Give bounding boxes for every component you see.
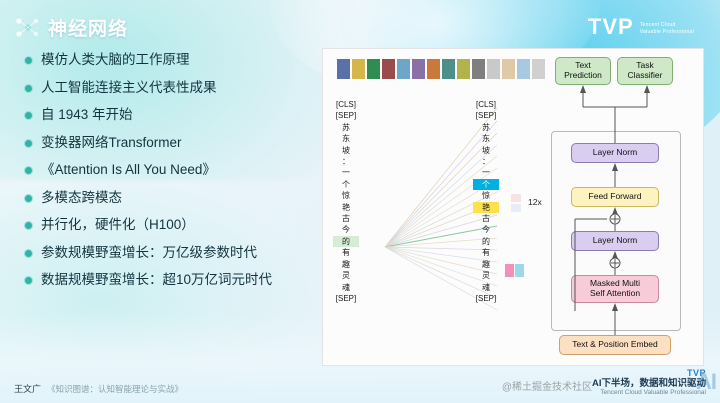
list-item: 多模态跨模态 xyxy=(24,190,314,206)
tvp-logo: TVP Tencent Cloud Valuable Professional xyxy=(588,16,694,38)
figure-panel: [CLS][SEP]苏东坡：一个惊艳古今的有趣灵魂[SEP] [CLS][SEP… xyxy=(322,48,704,366)
embedding-color-cell xyxy=(367,59,380,79)
bullet-text: 自 1943 年开始 xyxy=(41,107,133,123)
embedding-color-cell xyxy=(427,59,440,79)
token-cell: 个 xyxy=(473,179,499,190)
token-cell: 趣 xyxy=(473,259,499,270)
embedding-color-cell xyxy=(352,59,365,79)
token-cell: 古 xyxy=(473,213,499,224)
token-cell: 一 xyxy=(473,167,499,178)
repeat-label: 12x xyxy=(528,197,542,207)
bullet-text: 多模态跨模态 xyxy=(41,190,122,206)
list-item: 《Attention Is All You Need》 xyxy=(24,162,314,178)
embedding-color-cell xyxy=(502,59,515,79)
bullet-dot-icon xyxy=(24,249,33,258)
bullet-text: 数据规模野蛮增长：超10万亿词元时代 xyxy=(41,272,272,288)
bullet-list: 模仿人类大脑的工作原理 人工智能连接主义代表性成果 自 1943 年开始 变换器… xyxy=(24,52,314,300)
token-cell: 惊 xyxy=(333,190,359,201)
tvp-logo-mark: TVP xyxy=(588,16,634,38)
token-cell: 苏 xyxy=(473,122,499,133)
bullet-text: 并行化，硬件化（H100） xyxy=(41,217,195,233)
page-title: 神经网络 xyxy=(48,14,128,41)
token-cell: [CLS] xyxy=(473,99,499,110)
token-cell: 的 xyxy=(333,236,359,247)
embedding-color-cell xyxy=(517,59,530,79)
list-item: 人工智能连接主义代表性成果 xyxy=(24,80,314,96)
embedding-color-cell xyxy=(532,59,545,79)
token-cell: [SEP] xyxy=(473,293,499,304)
token-cell: 东 xyxy=(473,133,499,144)
bullet-text: 变换器网络Transformer xyxy=(41,135,182,151)
list-item: 自 1943 年开始 xyxy=(24,107,314,123)
token-cell: 艳 xyxy=(333,202,359,213)
token-cell: 古 xyxy=(333,213,359,224)
token-cell: [CLS] xyxy=(333,99,359,110)
token-column-right: [CLS][SEP]苏东坡：一个惊艳古今的有趣灵魂[SEP] xyxy=(473,99,499,304)
token-cell: 有 xyxy=(333,247,359,258)
embedding-color-cell xyxy=(457,59,470,79)
embedding-color-cell xyxy=(412,59,425,79)
footer-left: 王文广 《知识图谱：认知智能理论与实战》 xyxy=(14,382,183,395)
token-cell: 魂 xyxy=(333,282,359,293)
token-cell: 灵 xyxy=(473,270,499,281)
bullet-text: 参数规模野蛮增长：万亿级参数时代 xyxy=(41,245,257,261)
tvp-logo-subtitle: Tencent Cloud Valuable Professional xyxy=(640,19,694,35)
bullet-dot-icon xyxy=(24,194,33,203)
bullet-dot-icon xyxy=(24,166,33,175)
token-cell: 坡 xyxy=(473,145,499,156)
footer-headline-part1: AI下半场， xyxy=(592,378,640,389)
attention-block-a xyxy=(511,194,521,202)
figure-connectors xyxy=(551,49,681,365)
token-cell: [SEP] xyxy=(333,293,359,304)
token-cell: 坡 xyxy=(333,145,359,156)
attention-block-cyan xyxy=(515,264,524,277)
embedding-color-cell xyxy=(472,59,485,79)
token-column-left: [CLS][SEP]苏东坡：一个惊艳古今的有趣灵魂[SEP] xyxy=(333,99,359,304)
token-cell: 魂 xyxy=(473,282,499,293)
footer-headline: AI下半场，数据和知识驱动 xyxy=(592,378,706,389)
list-item: 数据规模野蛮增长：超10万亿词元时代 xyxy=(24,272,314,288)
embedding-color-cell xyxy=(487,59,500,79)
embedding-color-cell xyxy=(397,59,410,79)
token-cell: ： xyxy=(473,156,499,167)
token-cell: 一 xyxy=(333,167,359,178)
attention-block-pink xyxy=(505,264,514,277)
bullet-dot-icon xyxy=(24,111,33,120)
embedding-color-cell xyxy=(442,59,455,79)
token-cell: 有 xyxy=(473,247,499,258)
token-cell: 苏 xyxy=(333,122,359,133)
bullet-dot-icon xyxy=(24,84,33,93)
figure-inner: [CLS][SEP]苏东坡：一个惊艳古今的有趣灵魂[SEP] [CLS][SEP… xyxy=(323,49,703,365)
watermark: @稀土掘金技术社区 xyxy=(502,378,592,393)
token-cell: 的 xyxy=(473,236,499,247)
bullet-dot-icon xyxy=(24,276,33,285)
bullet-text: 《Attention Is All You Need》 xyxy=(41,162,216,178)
token-cell: 今 xyxy=(473,224,499,235)
attention-block-b xyxy=(511,204,521,212)
list-item: 参数规模野蛮增长：万亿级参数时代 xyxy=(24,245,314,261)
network-icon xyxy=(14,15,40,41)
token-cell: 惊 xyxy=(473,190,499,201)
bullet-text: 模仿人类大脑的工作原理 xyxy=(41,52,190,68)
bullet-dot-icon xyxy=(24,139,33,148)
footer-subline: Tencent Cloud Valuable Professional xyxy=(592,389,706,397)
token-cell: 趣 xyxy=(333,259,359,270)
slide-root: 神经网络 TVP Tencent Cloud Valuable Professi… xyxy=(0,0,720,403)
footer-ai-glyph: AI xyxy=(696,369,716,395)
token-cell: [SEP] xyxy=(473,110,499,121)
token-cell: [SEP] xyxy=(333,110,359,121)
token-cell: 今 xyxy=(333,224,359,235)
token-cell: 灵 xyxy=(333,270,359,281)
list-item: 变换器网络Transformer xyxy=(24,135,314,151)
token-cell: 个 xyxy=(333,179,359,190)
list-item: 并行化，硬件化（H100） xyxy=(24,217,314,233)
tvp-logo-sub-line2: Valuable Professional xyxy=(640,29,694,35)
bullet-text: 人工智能连接主义代表性成果 xyxy=(41,80,217,96)
token-cell: 东 xyxy=(333,133,359,144)
bullet-dot-icon xyxy=(24,221,33,230)
embedding-color-strip xyxy=(337,59,545,79)
token-cell: 艳 xyxy=(473,202,499,213)
book-title: 《知识图谱：认知智能理论与实战》 xyxy=(47,383,183,395)
slide-title-row: 神经网络 xyxy=(14,14,128,41)
token-cell: ： xyxy=(333,156,359,167)
embedding-color-cell xyxy=(337,59,350,79)
footer-tvp-mark: TVP xyxy=(592,368,706,378)
footer-right: TVP AI下半场，数据和知识驱动 Tencent Cloud Valuable… xyxy=(592,368,706,397)
author-name: 王文广 xyxy=(14,382,41,395)
bullet-dot-icon xyxy=(24,56,33,65)
embedding-color-cell xyxy=(382,59,395,79)
list-item: 模仿人类大脑的工作原理 xyxy=(24,52,314,68)
